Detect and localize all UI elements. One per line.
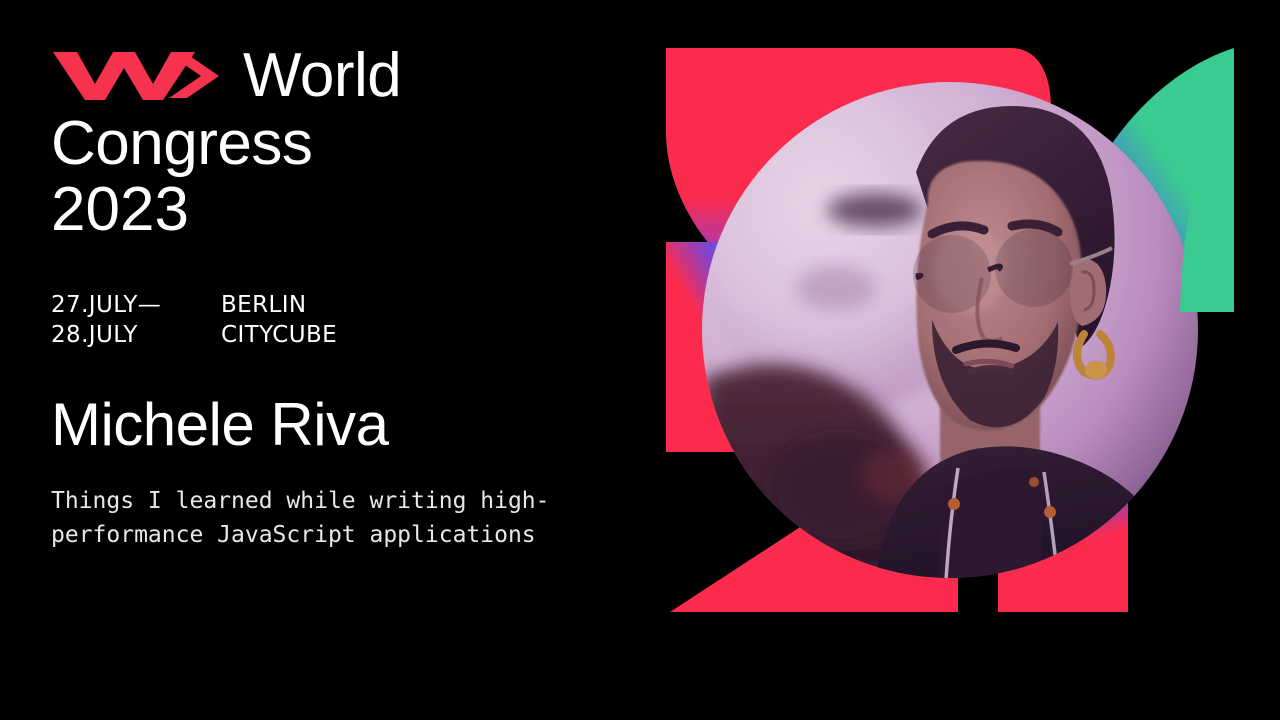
- speaker-graphic-composition: [640, 20, 1260, 640]
- speaker-portrait-photo: [700, 82, 1198, 580]
- event-dates: 27.JULY— 28.JULY: [51, 290, 221, 350]
- wearedevelopers-logo-icon: [51, 50, 221, 102]
- branding-block: World Congress 2023: [51, 40, 651, 244]
- event-venue-line-2: CITYCUBE: [221, 320, 337, 350]
- brand-word-world: World: [243, 45, 401, 107]
- graphic-svg: [640, 20, 1260, 640]
- event-venue: BERLIN CITYCUBE: [221, 290, 337, 350]
- conference-speaker-slide: World Congress 2023 27.JULY— 28.JULY BER…: [0, 0, 1280, 720]
- speaker-name: Michele Riva: [51, 392, 388, 458]
- event-date-line-1: 27.JULY—: [51, 290, 221, 320]
- brand-logo-row: World: [51, 40, 651, 112]
- brand-year: 2023: [51, 176, 651, 244]
- brand-word-congress: Congress: [51, 110, 651, 178]
- event-meta: 27.JULY— 28.JULY BERLIN CITYCUBE: [51, 290, 337, 350]
- event-venue-line-1: BERLIN: [221, 290, 337, 320]
- event-date-line-2: 28.JULY: [51, 320, 221, 350]
- talk-title: Things I learned while writing high-perf…: [51, 484, 651, 552]
